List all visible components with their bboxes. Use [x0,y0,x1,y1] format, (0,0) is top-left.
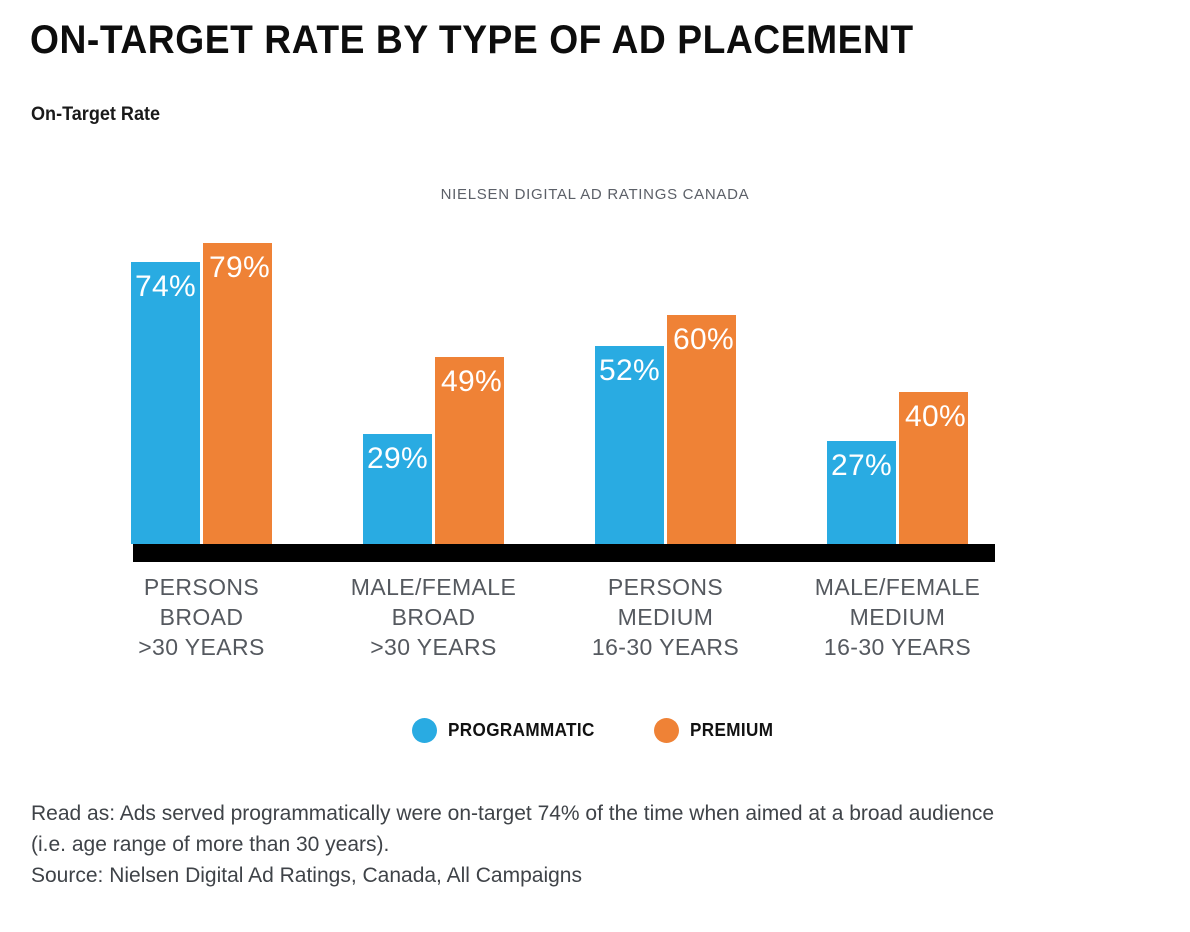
category-label-line: 16-30 YEARS [565,632,766,662]
category-label-line: >30 YEARS [101,632,302,662]
category-label-line: BROAD [333,602,534,632]
bar-programmatic-2: 52% [595,346,664,544]
chart-plot-area: 74%29%52%27%79%49%60%40% [133,200,995,544]
bar-premium-3: 40% [899,392,968,544]
category-label-line: 16-30 YEARS [797,632,998,662]
category-label-line: MALE/FEMALE [333,572,534,602]
category-label-line: MEDIUM [797,602,998,632]
bar-value-label: 74% [131,270,200,304]
bar-value-label: 40% [899,400,968,434]
footer-read-as-line: Read as: Ads served programmatically wer… [31,798,1171,829]
legend-item-programmatic[interactable]: PROGRAMMATIC [412,718,602,743]
footer-source-line: Source: Nielsen Digital Ad Ratings, Cana… [31,860,1171,891]
bar-programmatic-0: 74% [131,262,200,544]
bar-programmatic-1: 29% [363,434,432,544]
legend-item-premium[interactable]: PREMIUM [654,718,778,743]
footer-read-as-continued: (i.e. age range of more than 30 years). [31,829,1171,860]
category-label-line: >30 YEARS [333,632,534,662]
category-label-line: MEDIUM [565,602,766,632]
category-label-1: MALE/FEMALEBROAD>30 YEARS [333,572,534,662]
legend-label: PROGRAMMATIC [448,720,595,741]
category-axis-labels: PERSONSBROAD>30 YEARSMALE/FEMALEBROAD>30… [133,572,995,668]
category-label-line: PERSONS [101,572,302,602]
legend-label: PREMIUM [690,720,773,741]
bar-value-label: 49% [435,365,504,399]
legend-swatch-circle-icon [654,718,679,743]
category-label-0: PERSONSBROAD>30 YEARS [101,572,302,662]
category-label-line: BROAD [101,602,302,632]
axis-baseline [133,544,995,562]
bar-premium-2: 60% [667,315,736,544]
infographic-page: ON-TARGET RATE BY TYPE OF AD PLACEMENT O… [0,0,1190,932]
bar-value-label: 29% [363,442,432,476]
bar-value-label: 79% [203,251,272,285]
bar-chart: NIELSEN DIGITAL AD RATINGS CANADA 74%29%… [0,0,1190,770]
bar-value-label: 60% [667,323,736,357]
legend-swatch-circle-icon [412,718,437,743]
bar-programmatic-3: 27% [827,441,896,544]
category-label-line: PERSONS [565,572,766,602]
footer-notes: Read as: Ads served programmatically wer… [31,798,1171,891]
bar-premium-0: 79% [203,243,272,544]
category-label-line: MALE/FEMALE [797,572,998,602]
bar-premium-1: 49% [435,357,504,544]
chart-legend: PROGRAMMATICPREMIUM [0,718,1190,743]
bar-value-label: 27% [827,449,896,483]
category-label-2: PERSONSMEDIUM16-30 YEARS [565,572,766,662]
category-label-3: MALE/FEMALEMEDIUM16-30 YEARS [797,572,998,662]
bar-value-label: 52% [595,354,664,388]
